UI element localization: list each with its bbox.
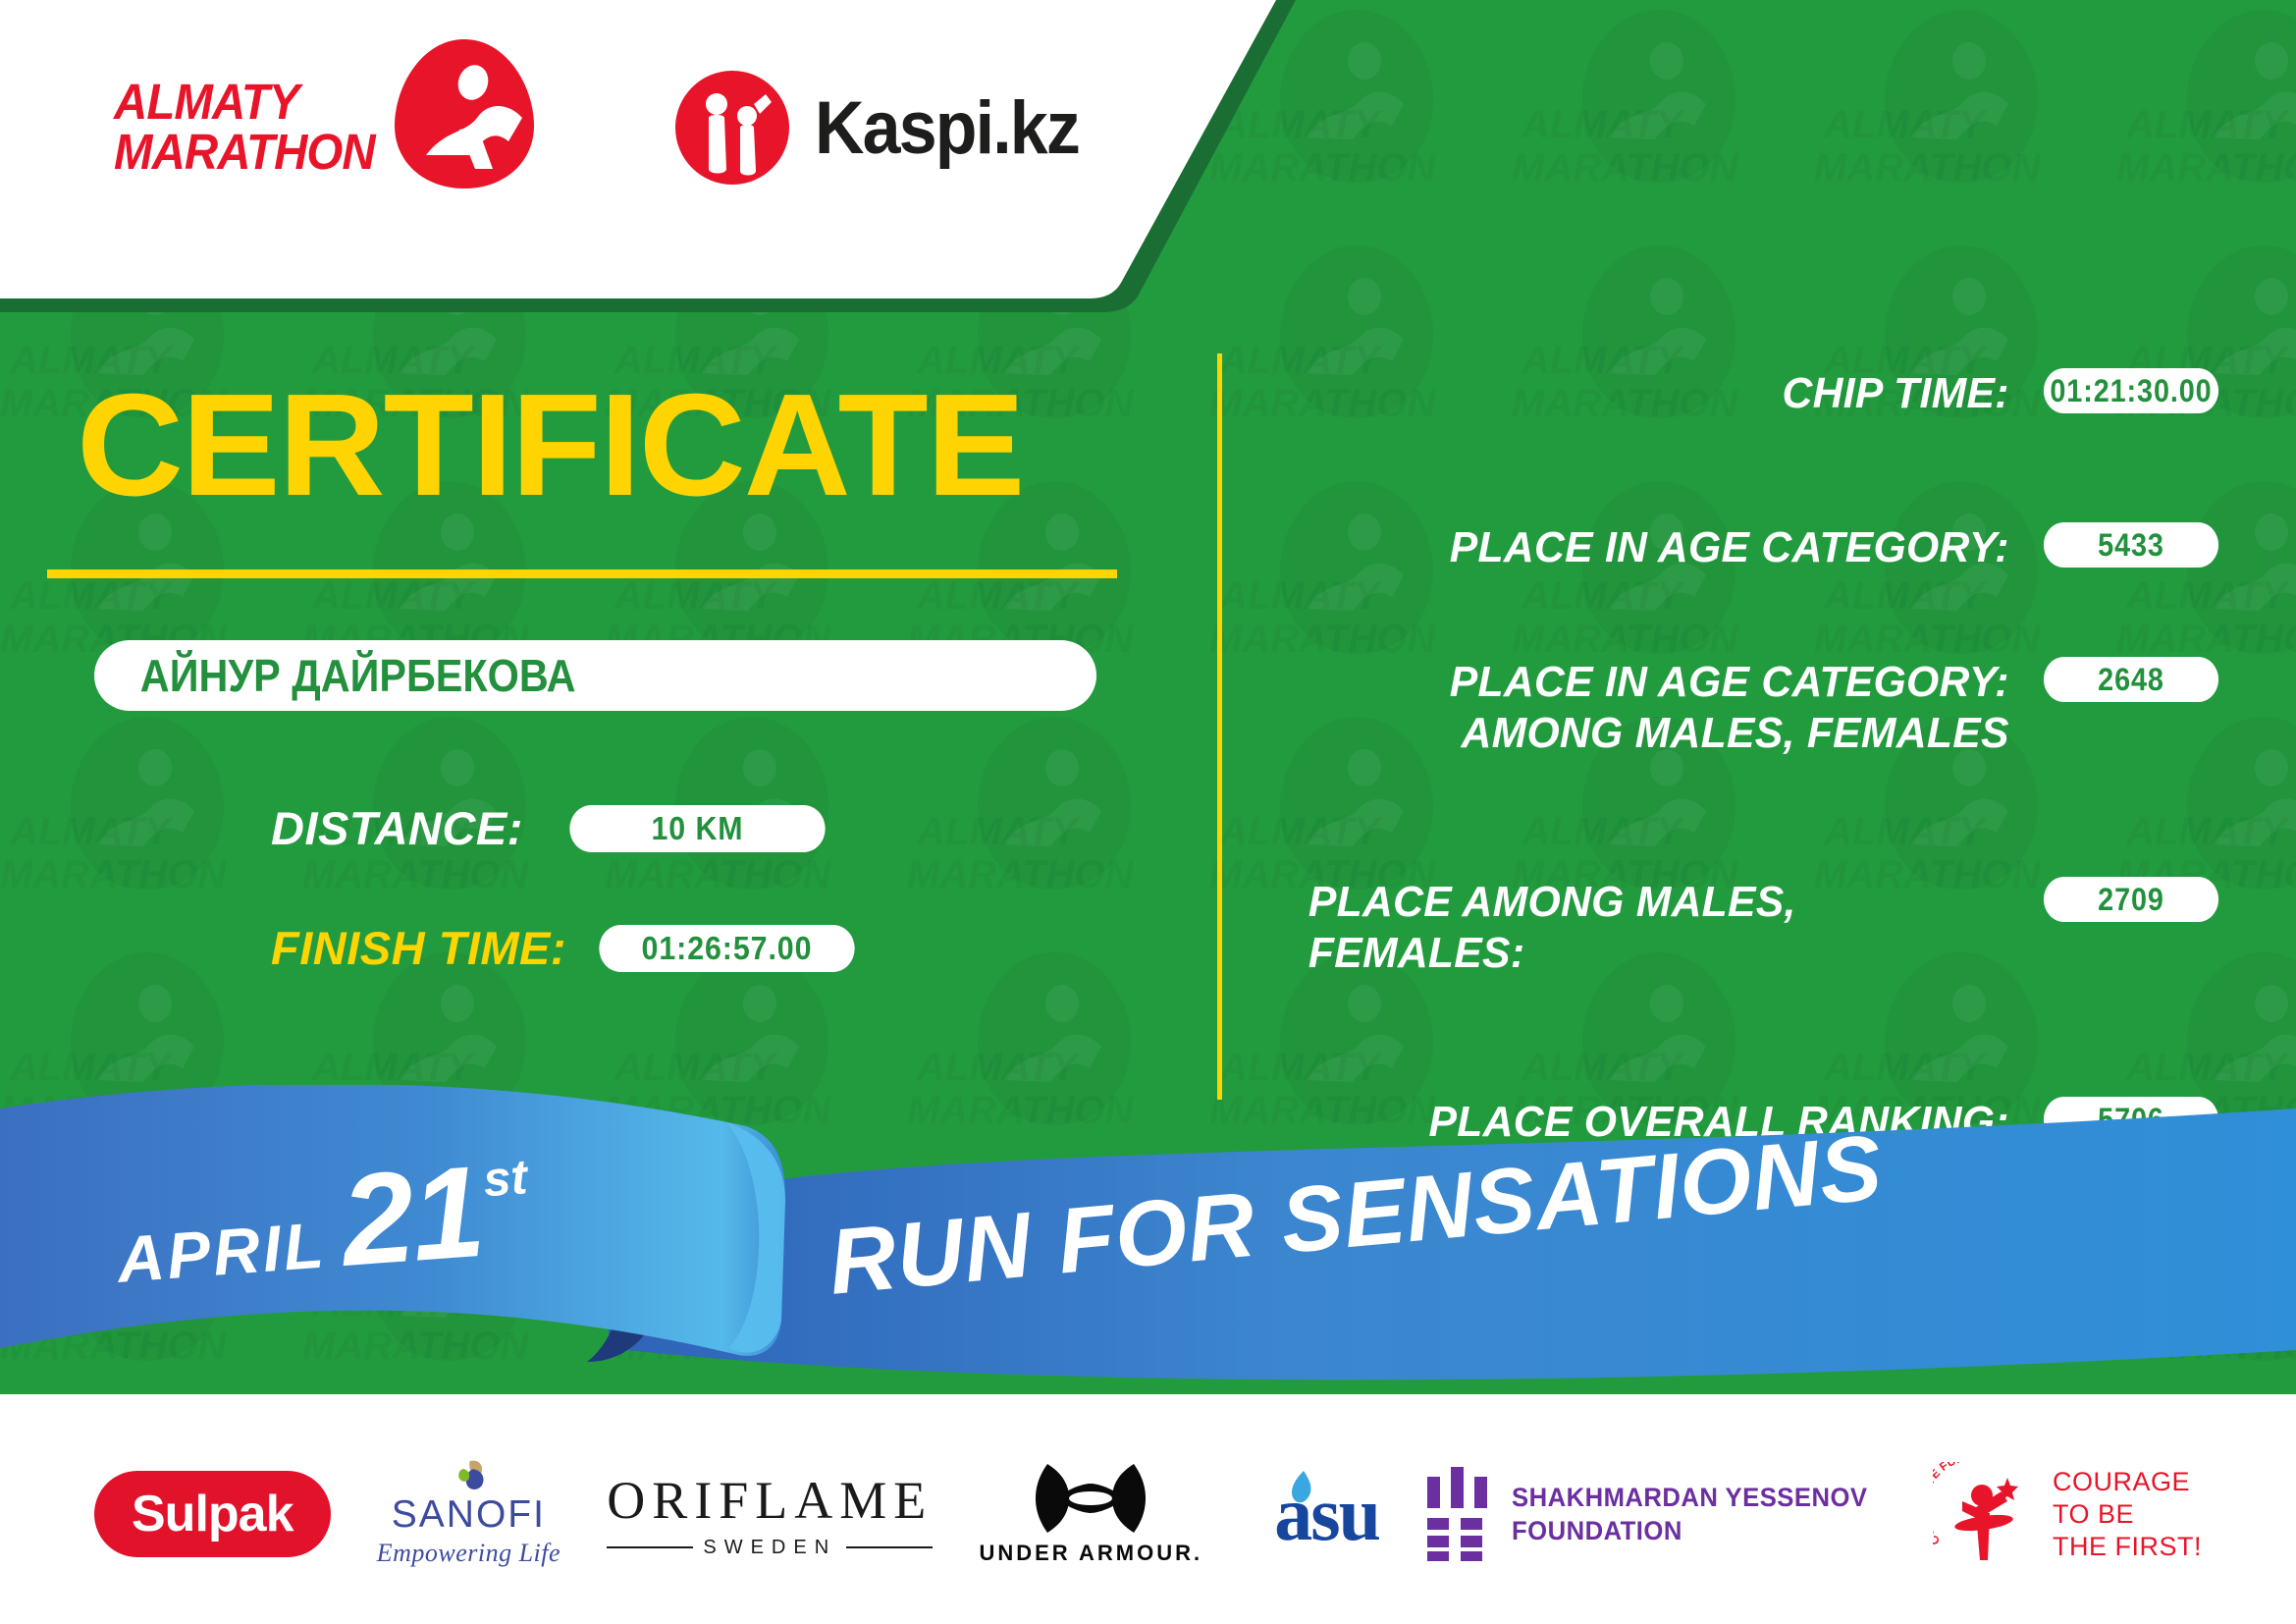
stat-label-chip-time: CHIP TIME: [1308,368,2034,419]
courage-line3: THE FIRST! [2053,1532,2202,1561]
almaty-marathon-logo: ALMATY MARATHON [114,61,538,192]
yessenov-wordmark: SHAKHMARDAN YESSENOV FOUNDATION [1512,1481,1867,1547]
stat-row-place-age-category-gender: PLACE IN AGE CATEGORY:AMONG MALES, FEMAL… [1286,657,2228,759]
vertical-divider [1217,353,1222,1100]
stat-label-place-age-category-gender: PLACE IN AGE CATEGORY:AMONG MALES, FEMAL… [1308,657,2034,759]
distance-label: DISTANCE: [271,801,523,855]
finish-time-value: 01:26:57.00 [599,925,854,972]
yessenov-bars-icon [1425,1467,1490,1561]
sponsor-bar: Sulpak SANOFI Empowering Life ORIFLAME S… [0,1404,2296,1624]
stat-value-place-age-category: 5433 [2044,522,2218,568]
yessenov-line1: SHAKHMARDAN YESSENOV [1512,1483,1867,1512]
kaspi-people-icon [671,67,793,189]
almaty-marathon-wordmark: ALMATY MARATHON [114,77,395,177]
finish-time-row: FINISH TIME: 01:26:57.00 [271,921,866,975]
sponsor-sanofi: SANOFI Empowering Life [377,1460,561,1568]
sulpak-wordmark: Sulpak [94,1471,331,1557]
event-date: APRIL 21 st [110,1133,534,1312]
yessenov-line2: FOUNDATION [1512,1516,1682,1545]
logo-line-marathon: MARATHON [114,127,375,177]
oriflame-rule-left [607,1546,693,1548]
sponsor-yessenov-foundation: SHAKHMARDAN YESSENOV FOUNDATION [1425,1460,1887,1568]
stat-value-place-age-category-gender: 2648 [2044,657,2218,702]
sanofi-icon [426,1460,510,1491]
logo-line-almaty: ALMATY [114,77,375,127]
stat-value-place-among-gender: 2709 [2044,877,2218,922]
oriflame-wordmark: ORIFLAME [607,1470,933,1531]
stat-label-place-among-gender: PLACE AMONG MALES,FEMALES: [1308,877,2034,979]
kaspi-wordmark: Kaspi.kz [815,85,1079,171]
sponsor-sulpak: Sulpak [94,1460,331,1568]
oriflame-sweden: SWEDEN [703,1537,836,1559]
courage-line2: TO BE [2053,1499,2134,1529]
sponsor-courage-to-be-the-first: CORPORATE FUND COURAGE TO BE THE FIRST! [1933,1460,2202,1568]
event-month: APRIL [115,1207,329,1296]
courage-line1: COURAGE [2053,1467,2190,1496]
stat-row-chip-time: CHIP TIME: 01:21:30.00 [1286,368,2228,419]
courage-wordmark: COURAGE TO BE THE FIRST! [2053,1466,2202,1563]
distance-row: DISTANCE: 10 KM [271,801,836,855]
stat-value-place-overall: 5706 [2044,1097,2218,1142]
athlete-name: АЙНУР ДАЙРБЕКОВА [94,649,576,702]
courage-runner-icon: CORPORATE FUND [1933,1462,2041,1566]
sanofi-wordmark: SANOFI [392,1493,546,1537]
event-day-ordinal: st [481,1148,529,1208]
oriflame-rule-right [846,1546,933,1548]
under-armour-icon [1036,1462,1146,1535]
event-day: 21 [337,1137,488,1295]
certificate-page: ALMATY MARATHON ALMATY MARATHON [0,0,2296,1624]
sponsor-under-armour: UNDER ARMOUR. [979,1460,1202,1568]
distance-value: 10 KM [569,805,825,852]
page-title: CERTIFICATE [77,373,1023,518]
asu-wordmark: asu [1274,1470,1379,1558]
stats-panel: CHIP TIME: 01:21:30.00 PLACE IN AGE CATE… [1286,368,2228,726]
finish-time-label: FINISH TIME: [271,921,566,975]
sanofi-tagline: Empowering Life [377,1539,561,1568]
sponsor-oriflame: ORIFLAME SWEDEN [607,1460,933,1568]
athlete-name-field: АЙНУР ДАЙРБЕКОВА [94,640,1096,711]
stat-row-place-among-gender: PLACE AMONG MALES,FEMALES: 2709 [1286,877,2228,979]
kaspi-logo: Kaspi.kz [671,67,1101,189]
stat-label-place-age-category: PLACE IN AGE CATEGORY: [1308,522,2034,573]
sponsor-asu: asu [1249,1460,1379,1568]
stat-value-chip-time: 01:21:30.00 [2044,368,2218,413]
runner-drop-icon [391,35,538,192]
under-armour-wordmark: UNDER ARMOUR. [979,1541,1202,1566]
oriflame-subline: SWEDEN [607,1537,933,1559]
stat-row-place-age-category: PLACE IN AGE CATEGORY: 5433 [1286,522,2228,573]
title-divider [47,569,1117,578]
